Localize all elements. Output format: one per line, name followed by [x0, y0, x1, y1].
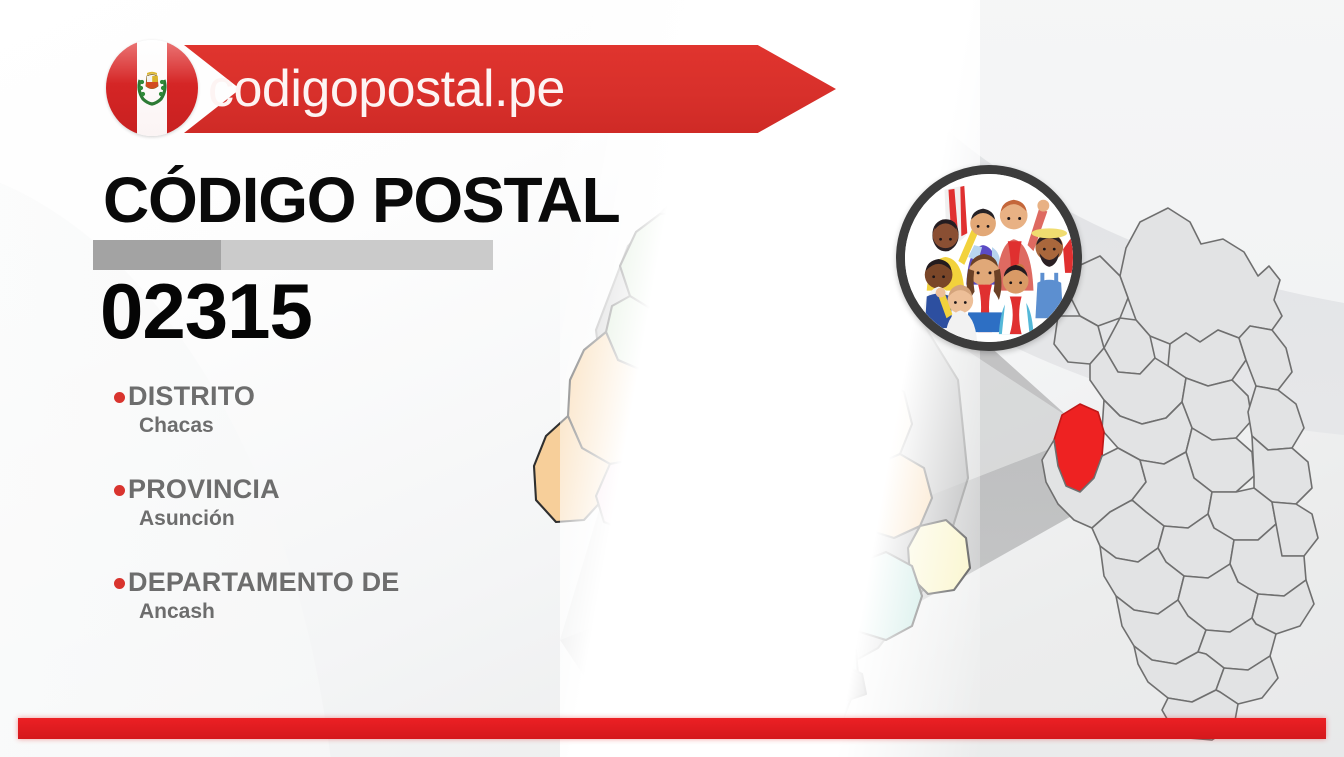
magnifier-circle-icon — [896, 165, 1082, 351]
postal-code-value: 02315 — [100, 272, 312, 350]
brand-header: codigopostal.pe — [100, 36, 800, 141]
info-value-departamento: Ancash — [139, 600, 584, 624]
info-label-provincia: PROVINCIA — [128, 476, 280, 503]
ancash-highlight — [1054, 404, 1104, 492]
poster-canvas: codigopostal.pe CÓDIGO POSTAL — [0, 0, 1344, 757]
list-item: DISTRITO Chacas — [114, 383, 584, 438]
list-item: DEPARTAMENTO DE Ancash — [114, 569, 584, 624]
bullet-icon — [114, 578, 125, 589]
location-info-list: DISTRITO Chacas PROVINCIA Asunción DEPAR… — [114, 383, 584, 662]
info-value-distrito: Chacas — [139, 414, 584, 438]
page-title: CÓDIGO POSTAL — [103, 168, 620, 232]
list-item: PROVINCIA Asunción — [114, 476, 584, 531]
bullet-icon — [114, 485, 125, 496]
divider-track — [221, 240, 493, 270]
bullet-icon — [114, 392, 125, 403]
info-label-distrito: DISTRITO — [128, 383, 255, 410]
info-value-provincia: Asunción — [139, 507, 584, 531]
title-divider-bar — [93, 240, 493, 270]
bottom-accent-bar — [18, 718, 1326, 739]
info-label-departamento: DEPARTAMENTO DE — [128, 569, 400, 596]
peru-country-map — [1042, 208, 1318, 740]
site-name: codigopostal.pe — [100, 36, 800, 141]
peru-supporters-illustration — [905, 174, 1073, 342]
peru-flag-icon — [106, 40, 198, 136]
divider-fill — [93, 240, 221, 270]
